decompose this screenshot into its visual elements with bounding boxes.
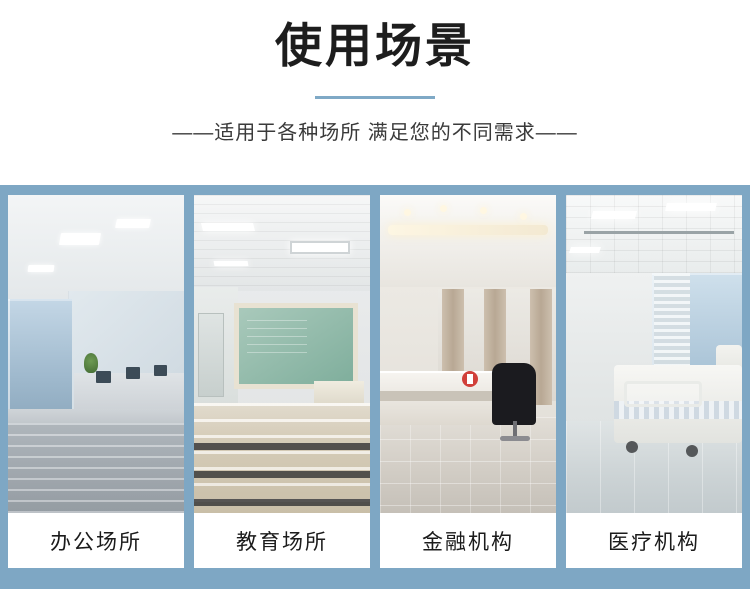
cove-light [388, 225, 548, 235]
desk-row [194, 443, 370, 450]
foreground-blinds [8, 423, 184, 513]
downlight [404, 209, 411, 216]
downlight [480, 207, 487, 214]
ceiling-light-panel [290, 241, 350, 254]
office-chair [492, 363, 536, 425]
scene-card-label: 教育场所 [194, 513, 370, 568]
bed-wheel [686, 445, 698, 457]
ceiling-light-panel [201, 223, 255, 231]
monitor [96, 371, 111, 383]
ceiling [8, 195, 184, 299]
monitor [154, 365, 167, 376]
downlight [440, 205, 447, 212]
floor [194, 403, 370, 513]
scene-card[interactable]: 医疗机构 [566, 195, 742, 568]
desk-row [194, 499, 370, 506]
page-title: 使用场景 [0, 18, 750, 74]
bed-wheel [626, 441, 638, 453]
scene-card-label: 办公场所 [8, 513, 184, 568]
chair-base [500, 421, 530, 447]
curtain-rail [584, 231, 734, 234]
ceiling-light-panel [214, 261, 249, 266]
monitor [126, 367, 140, 379]
scene-photo-classroom [194, 195, 370, 513]
ceiling-light-panel [115, 219, 151, 228]
scene-photo-bank [380, 195, 556, 513]
downlight [520, 213, 527, 220]
promotional-page: 使用场景 ——适用于各种场所 满足您的不同需求—— [0, 0, 750, 589]
scene-card[interactable]: 教育场所 [194, 195, 370, 568]
page-subtitle: ——适用于各种场所 满足您的不同需求—— [0, 116, 750, 145]
scene-card-label: 金融机构 [380, 513, 556, 568]
title-divider [315, 96, 435, 99]
scene-card[interactable]: 办公场所 [8, 195, 184, 568]
scene-card-list: 办公场所 教育场所 [0, 185, 750, 589]
plant [84, 353, 98, 373]
desk-row [194, 471, 370, 478]
ceiling-light-panel [59, 233, 101, 245]
scene-photo-hospital [566, 195, 742, 513]
scene-card-label: 医疗机构 [566, 513, 742, 568]
counter-band [380, 391, 500, 401]
bed-side-rail [624, 381, 702, 407]
ceiling-light-panel [28, 265, 55, 272]
scenes-band: 办公场所 教育场所 [0, 185, 750, 589]
page-header: 使用场景 ——适用于各种场所 满足您的不同需求—— [0, 0, 750, 145]
ceiling-light-panel [665, 203, 717, 211]
ceiling-light-panel [591, 211, 637, 219]
scene-card[interactable]: 金融机构 [380, 195, 556, 568]
chalkboard [234, 303, 358, 389]
scene-photo-office [8, 195, 184, 513]
door [198, 313, 224, 397]
bank-logo-icon [462, 371, 478, 387]
ceiling-light-panel [569, 247, 601, 253]
